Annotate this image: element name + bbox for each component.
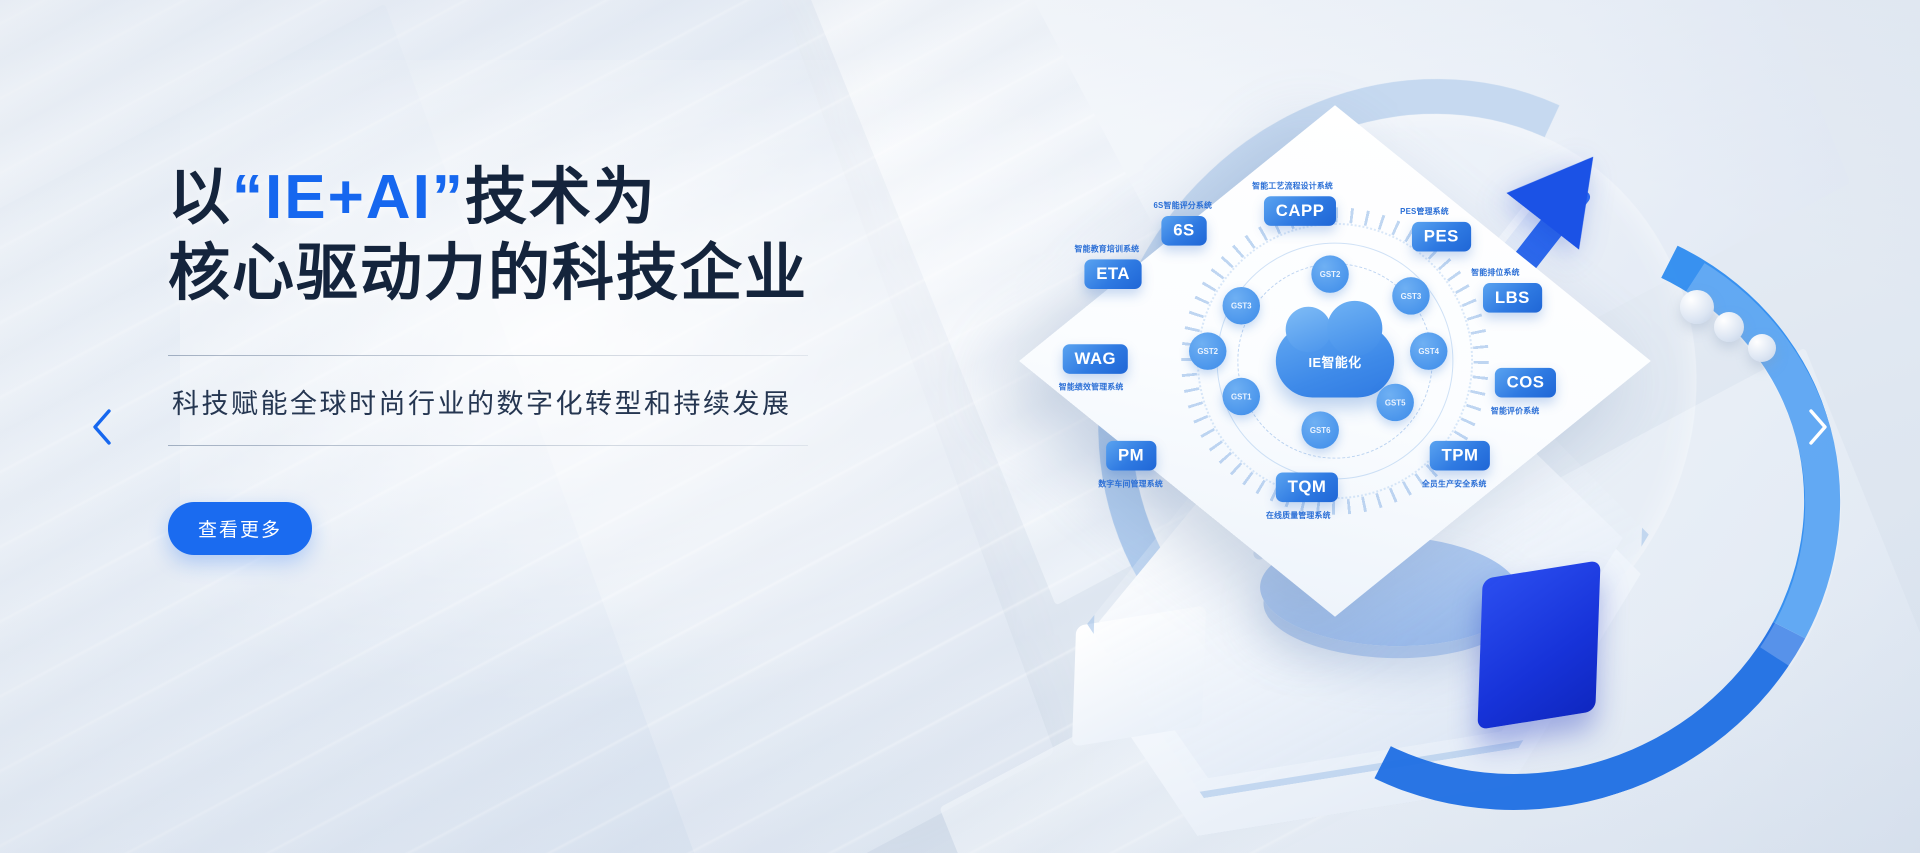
module-caption-tpm: 全员生产安全系统 <box>1422 478 1487 489</box>
module-caption-cos: 智能评价系统 <box>1491 405 1540 416</box>
module-tag-wag[interactable]: WAG <box>1063 344 1128 374</box>
headline-line-1: 以“IE+AI”技术为 <box>168 163 657 232</box>
module-tag-cos[interactable]: COS <box>1495 368 1557 398</box>
module-tag-capp[interactable]: CAPP <box>1264 196 1336 226</box>
headline-suffix: 技术为 <box>465 163 657 232</box>
diagram-node-gst1: GST1 <box>1223 378 1260 415</box>
module-caption-capp: 智能工艺流程设计系统 <box>1252 180 1333 191</box>
module-tag-lbs[interactable]: LBS <box>1483 283 1542 313</box>
module-tag-tqm[interactable]: TQM <box>1276 472 1338 502</box>
carousel-next-button[interactable] <box>1794 403 1842 451</box>
headline-quote-open: “ <box>232 163 265 232</box>
diagram-center-label: IE智能化 <box>1308 352 1361 371</box>
module-caption-eta: 智能教育培训系统 <box>1075 244 1140 255</box>
headline-quote-close: ” <box>432 163 465 232</box>
sphere-3 <box>1748 334 1776 362</box>
diagram-card-inner: IE智能化 GST1 GST2 GST3 GST4 GST5 GST6 GST2… <box>1103 129 1567 593</box>
diagram-card: IE智能化 GST1 GST2 GST3 GST4 GST5 GST6 GST2… <box>1019 105 1651 617</box>
diagram-node-gst2-top: GST2 <box>1311 255 1348 292</box>
chevron-left-icon <box>89 407 115 447</box>
ie-system-diagram: IE智能化 GST1 GST2 GST3 GST4 GST5 GST6 GST2… <box>1128 238 1542 485</box>
chevron-right-icon <box>1805 407 1831 447</box>
module-tag-6s[interactable]: 6S <box>1161 216 1206 246</box>
module-tag-eta[interactable]: ETA <box>1084 259 1141 289</box>
module-tag-pm[interactable]: PM <box>1106 441 1156 471</box>
hero-illustration: IE智能化 GST1 GST2 GST3 GST4 GST5 GST6 GST2… <box>1060 40 1860 830</box>
module-tag-tpm[interactable]: TPM <box>1430 441 1491 471</box>
view-more-button[interactable]: 查看更多 <box>168 502 312 555</box>
page-title: 以“IE+AI”技术为 核心驱动力的科技企业 <box>168 160 888 311</box>
sphere-1 <box>1680 290 1714 324</box>
module-tag-pes[interactable]: PES <box>1412 222 1471 252</box>
diagram-node-gst4: GST4 <box>1410 332 1447 369</box>
hero-copy: 以“IE+AI”技术为 核心驱动力的科技企业 科技赋能全球时尚行业的数字化转型和… <box>168 160 888 555</box>
headline-highlight: IE+AI <box>265 163 432 232</box>
carousel-prev-button[interactable] <box>78 403 126 451</box>
sphere-2 <box>1714 312 1744 342</box>
module-caption-6s: 6S智能评分系统 <box>1153 200 1212 211</box>
module-caption-pes: PES管理系统 <box>1400 206 1449 217</box>
diagram-node-gst6: GST6 <box>1301 411 1338 448</box>
diagram-node-gst3-right: GST3 <box>1392 277 1429 314</box>
module-caption-wag: 智能绩效管理系统 <box>1059 382 1124 393</box>
divider-bottom <box>168 445 808 446</box>
headline-prefix: 以 <box>168 163 232 232</box>
diagram-node-gst3: GST3 <box>1223 287 1260 324</box>
hero-subtitle: 科技赋能全球时尚行业的数字化转型和持续发展 <box>168 356 888 445</box>
hero-banner: IE智能化 GST1 GST2 GST3 GST4 GST5 GST6 GST2… <box>0 0 1920 853</box>
headline-line-2: 核心驱动力的科技企业 <box>168 239 808 308</box>
diagram-center-cloud: IE智能化 <box>1276 324 1394 397</box>
module-caption-pm: 数字车间管理系统 <box>1098 478 1163 489</box>
decorative-spheres <box>1680 290 1810 370</box>
diagram-node-gst2: GST2 <box>1189 332 1226 369</box>
module-caption-lbs: 智能排位系统 <box>1471 267 1520 278</box>
diagram-node-gst5: GST5 <box>1376 384 1413 421</box>
module-caption-tqm: 在线质量管理系统 <box>1266 510 1331 521</box>
